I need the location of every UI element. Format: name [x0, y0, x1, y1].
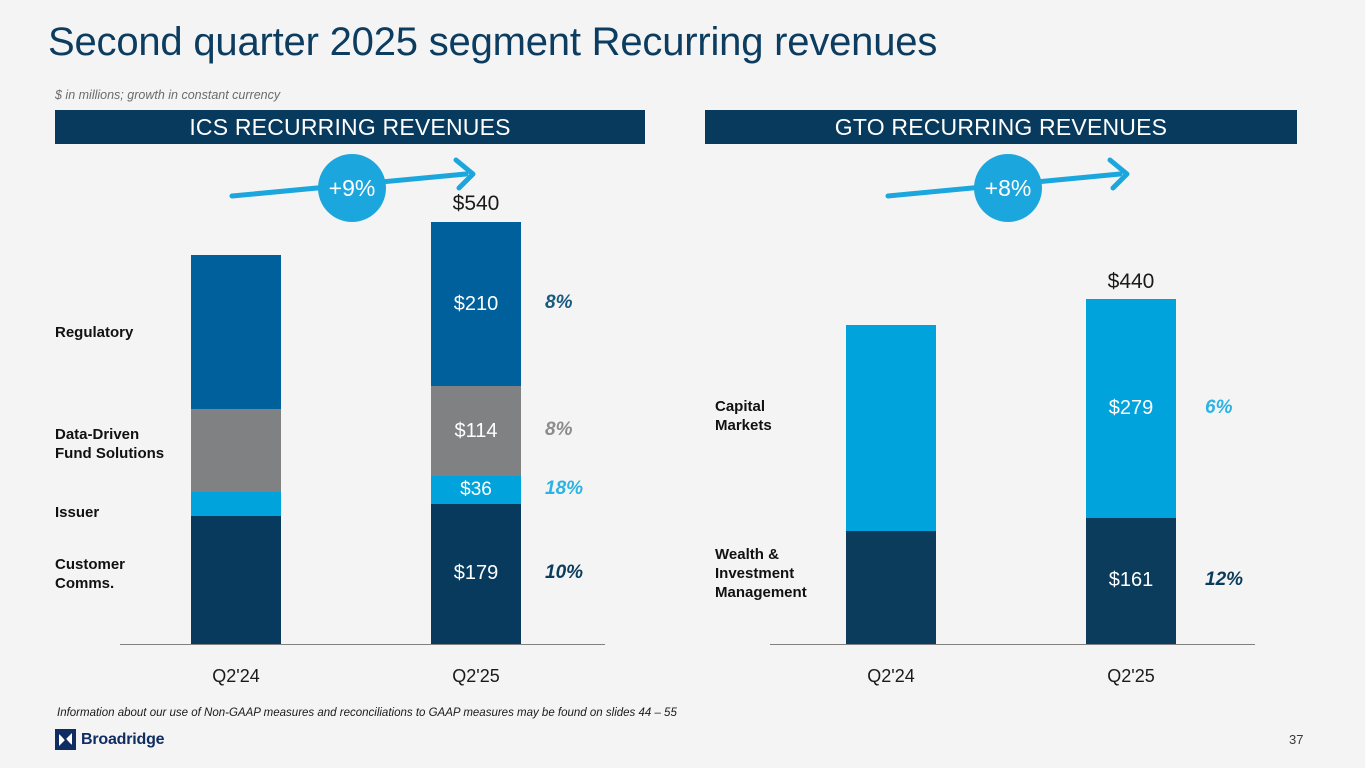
chart-ics: Q2'24$179$36$114$210$540Q2'2510%18%8%8%R…	[55, 225, 645, 685]
bar-segment-wealth-investment-management	[846, 531, 936, 644]
growth-pct-issuer: 18%	[545, 478, 615, 500]
category-label-capital-markets: CapitalMarkets	[715, 397, 772, 435]
bar-ics-0	[191, 255, 281, 644]
bar-segment-regulatory: $210	[431, 222, 521, 386]
bar-segment-customer-comms: $179	[431, 504, 521, 644]
bar-total-label-ics-1: $540	[421, 192, 531, 216]
growth-arrow-gto: +8%	[884, 152, 1140, 224]
bar-segment-data-driven-fund-solutions	[191, 409, 281, 492]
category-label-wealth-investment-management: Wealth &InvestmentManagement	[715, 545, 807, 603]
growth-pct-customer-comms: 10%	[545, 562, 615, 584]
bar-segment-regulatory	[191, 255, 281, 409]
growth-pct-data-driven-fund-solutions: 8%	[545, 419, 615, 441]
slide-canvas: Second quarter 2025 segment Recurring re…	[0, 0, 1365, 768]
chart-gto: Q2'24$161$279$440Q2'2512%6%CapitalMarket…	[705, 225, 1297, 685]
bar-total-label-gto-1: $440	[1076, 270, 1186, 294]
x-axis-line	[120, 644, 605, 645]
x-axis-tick-ics-1: Q2'25	[406, 666, 546, 687]
bar-segment-capital-markets	[846, 325, 936, 532]
bar-segment-wealth-investment-management: $161	[1086, 518, 1176, 644]
bar-segment-customer-comms	[191, 516, 281, 644]
bar-segment-data-driven-fund-solutions: $114	[431, 386, 521, 475]
category-label-issuer: Issuer	[55, 503, 99, 522]
category-label-data-driven-fund-solutions: Data-DrivenFund Solutions	[55, 425, 164, 463]
panel-banner-ics: ICS RECURRING REVENUES	[55, 110, 645, 144]
x-axis-line	[770, 644, 1255, 645]
broadridge-mark-icon	[55, 729, 76, 750]
bar-segment-issuer: $36	[431, 476, 521, 504]
category-label-regulatory: Regulatory	[55, 323, 133, 342]
page-number: 37	[1289, 732, 1303, 747]
slide-subtitle: $ in millions; growth in constant curren…	[55, 88, 280, 102]
growth-badge-ics: +9%	[318, 154, 386, 222]
x-axis-tick-gto-1: Q2'25	[1061, 666, 1201, 687]
growth-pct-wealth-investment-management: 12%	[1205, 569, 1275, 591]
category-label-customer-comms: CustomerComms.	[55, 555, 125, 593]
footnote: Information about our use of Non-GAAP me…	[57, 707, 677, 719]
growth-pct-capital-markets: 6%	[1205, 397, 1275, 419]
bar-gto-1: $161$279	[1086, 299, 1176, 644]
bar-gto-0	[846, 325, 936, 644]
x-axis-tick-ics-0: Q2'24	[166, 666, 306, 687]
growth-pct-regulatory: 8%	[545, 292, 615, 314]
bar-segment-capital-markets: $279	[1086, 299, 1176, 517]
growth-badge-gto: +8%	[974, 154, 1042, 222]
brand-logo: Broadridge	[55, 729, 164, 750]
bar-ics-1: $179$36$114$210	[431, 221, 521, 644]
bar-segment-issuer	[191, 492, 281, 516]
page-title: Second quarter 2025 segment Recurring re…	[48, 20, 937, 65]
x-axis-tick-gto-0: Q2'24	[821, 666, 961, 687]
panel-banner-gto: GTO RECURRING REVENUES	[705, 110, 1297, 144]
brand-name: Broadridge	[81, 731, 164, 749]
